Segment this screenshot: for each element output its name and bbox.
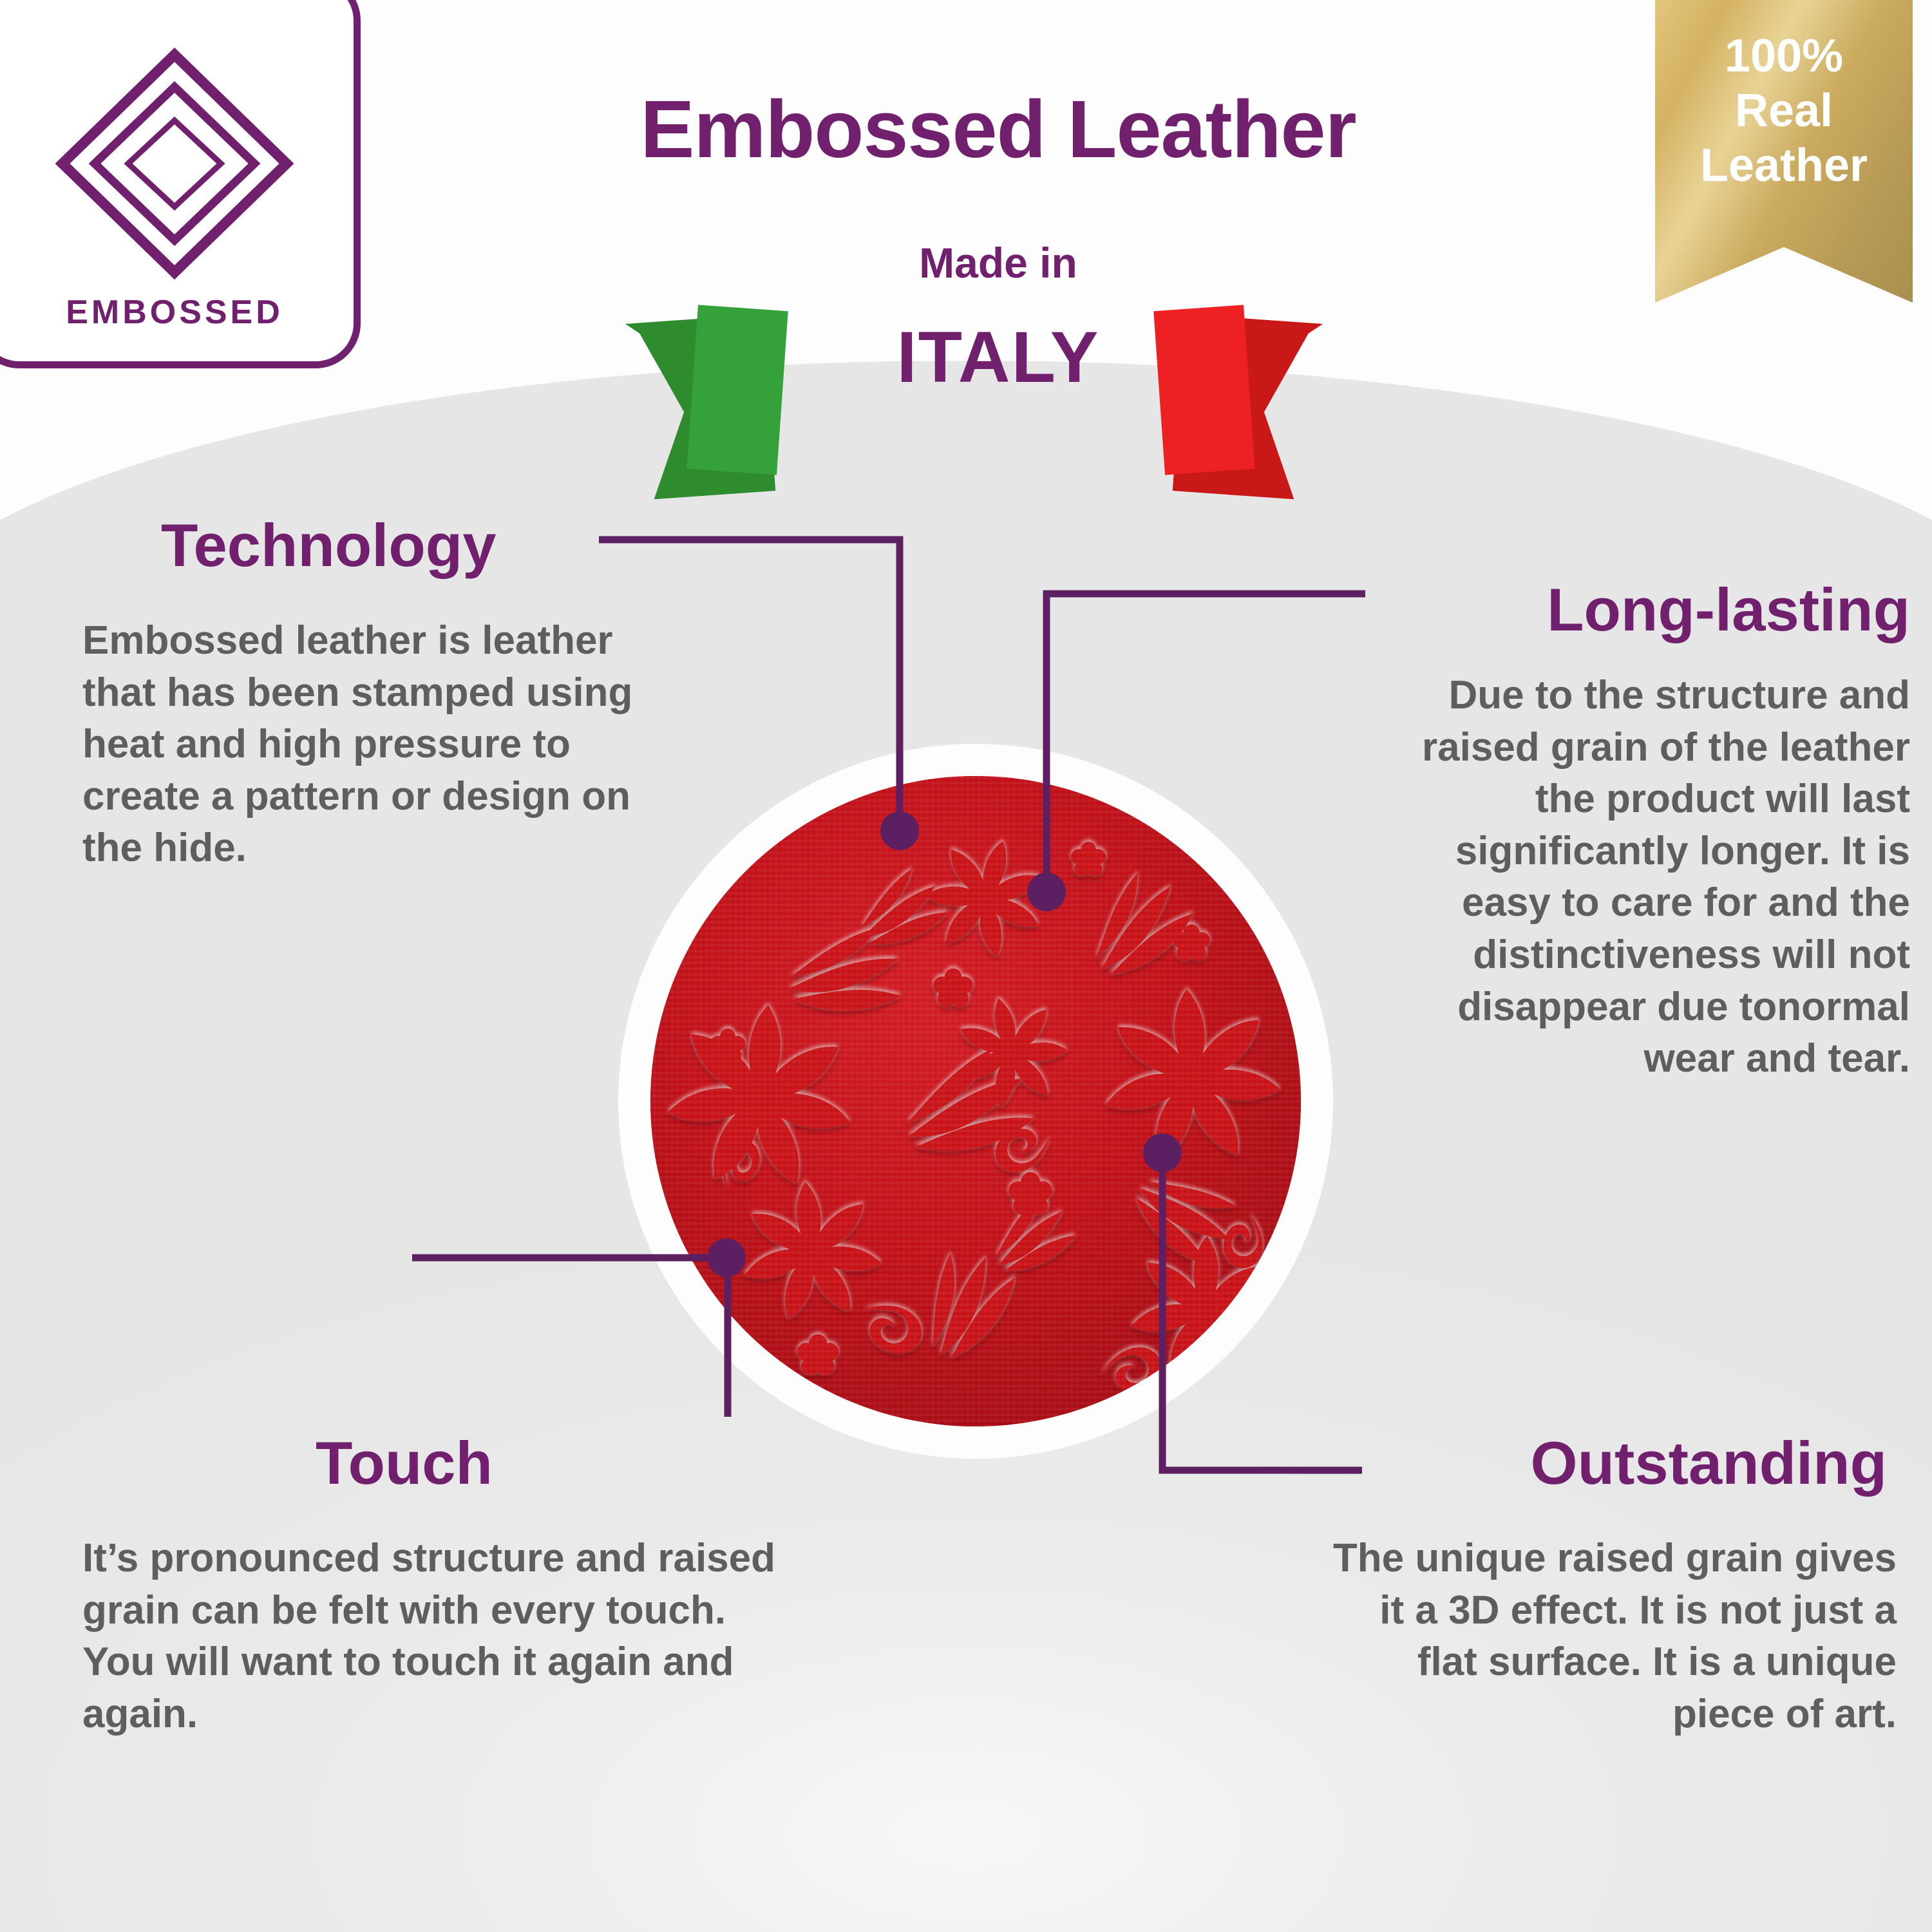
brand-logo-inner: EMBOSSED <box>7 7 342 369</box>
ribbon-line-3: Leather <box>1655 138 1913 193</box>
page-title: Embossed Leather <box>451 82 1546 176</box>
made-in-label: Made in <box>451 238 1546 287</box>
leather-swatch-ring <box>618 744 1333 1459</box>
section-body-outstanding: The unique raised grain gives it a 3D ef… <box>1317 1533 1897 1740</box>
brand-logo-wordmark: EMBOSSED <box>66 293 283 332</box>
brand-logo-box: EMBOSSED <box>0 0 361 368</box>
section-body-long-lasting: Due to the structure and raised grain of… <box>1395 670 1910 1085</box>
nested-diamond-icon <box>52 44 297 283</box>
section-body-touch: It’s pronounced structure and raised gra… <box>82 1533 804 1740</box>
section-heading-touch: Touch <box>316 1433 493 1493</box>
section-heading-long-lasting: Long-lasting <box>1547 580 1910 640</box>
red-embossed-leather-swatch-icon <box>650 776 1301 1426</box>
infographic-page: EMBOSSED 100% Real Leather Embossed Leat… <box>0 0 1932 1932</box>
section-heading-outstanding: Outstanding <box>1531 1433 1888 1493</box>
section-heading-technology: Technology <box>161 515 497 576</box>
section-body-technology: Embossed leather is leather that has bee… <box>82 615 681 875</box>
country-label: ITALY <box>451 316 1546 399</box>
ribbon-line-1: 100% <box>1655 29 1913 84</box>
ribbon-line-2: Real <box>1655 84 1913 138</box>
